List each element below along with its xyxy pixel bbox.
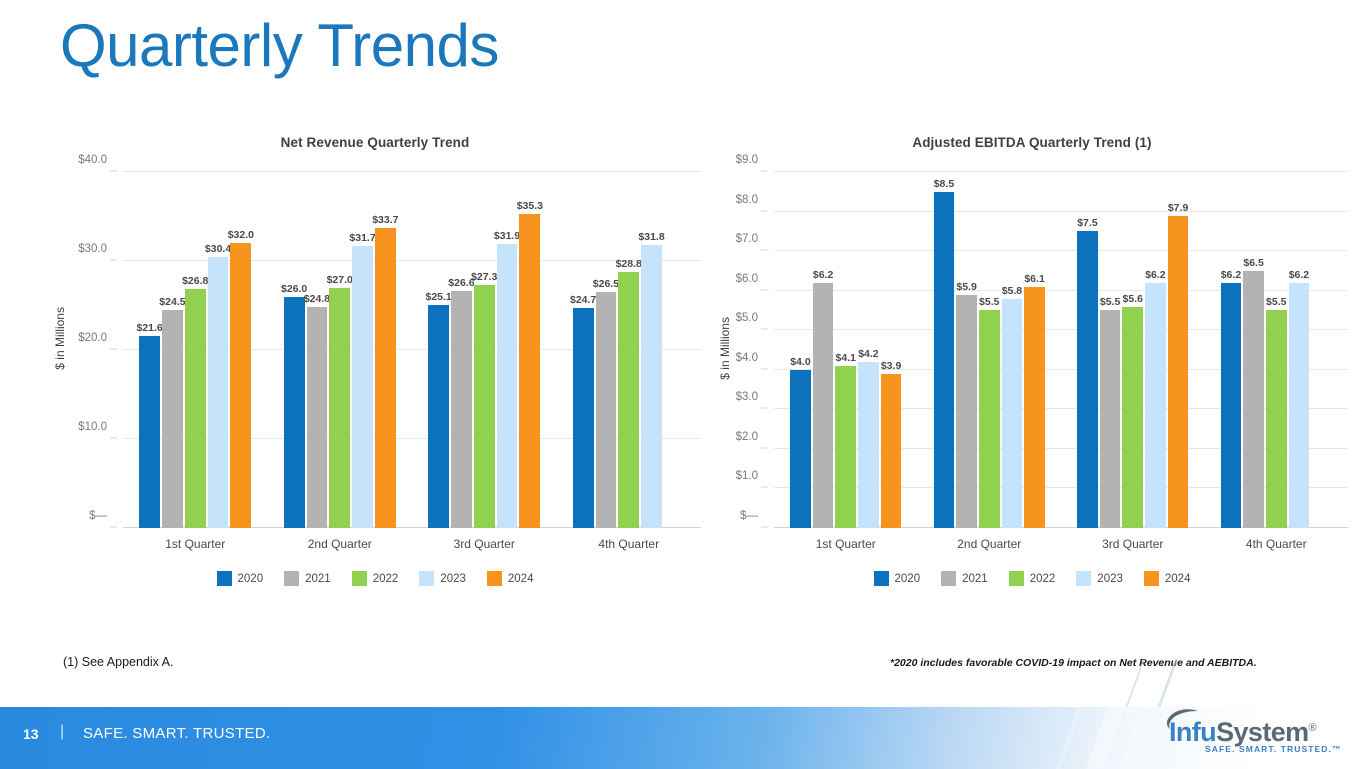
- bar-value-label: $32.0: [228, 229, 254, 241]
- bar-value-label: $24.5: [159, 296, 185, 308]
- plot-area-adjusted-ebitda: $—$1.0$2.0$3.0$4.0$5.0$6.0$7.0$8.0$9.0 $…: [774, 172, 1348, 528]
- bar[interactable]: $26.6: [451, 291, 472, 528]
- bar-slot: $26.8: [185, 172, 206, 528]
- bar-slot: $5.5: [1266, 172, 1287, 528]
- bar-value-label: $25.1: [426, 291, 452, 303]
- legend-net-revenue: 20202021202220232024: [45, 571, 705, 586]
- bar[interactable]: $30.4: [208, 257, 229, 528]
- chart-adjusted-ebitda: Adjusted EBITDA Quarterly Trend (1) $ in…: [712, 132, 1352, 592]
- bar-value-label: $5.8: [1002, 285, 1022, 297]
- bar[interactable]: $26.8: [185, 289, 206, 528]
- logo-word-system: System: [1216, 717, 1308, 747]
- bar-slot: [1311, 172, 1332, 528]
- bar-value-label: $3.9: [881, 360, 901, 372]
- bar[interactable]: $27.3: [474, 285, 495, 528]
- bar-value-label: $7.5: [1077, 217, 1097, 229]
- bar[interactable]: $25.1: [428, 305, 449, 528]
- bar-slot: $3.9: [881, 172, 902, 528]
- bar[interactable]: $6.2: [1289, 283, 1310, 528]
- bar-group: $24.7$26.5$28.8$31.8: [557, 172, 702, 528]
- bar-slot: $7.9: [1168, 172, 1189, 528]
- bar-value-label: $5.5: [979, 296, 999, 308]
- bar-slot: $6.1: [1024, 172, 1045, 528]
- x-axis-net-revenue: 1st Quarter2nd Quarter3rd Quarter4th Qua…: [123, 528, 701, 551]
- legend-label: 2023: [1097, 573, 1123, 585]
- bar-slot: $27.0: [329, 172, 350, 528]
- legend-item[interactable]: 2024: [487, 571, 534, 586]
- bar[interactable]: $32.0: [230, 243, 251, 528]
- y-tick-mark: [761, 487, 768, 488]
- y-tick-label: $30.0: [78, 243, 107, 255]
- y-axis-net-revenue: $—$10.0$20.0$30.0$40.0: [47, 172, 117, 528]
- y-tick-label: $1.0: [736, 470, 758, 482]
- y-tick-mark: [110, 438, 117, 439]
- bar-group: $21.6$24.5$26.8$30.4$32.0: [123, 172, 268, 528]
- bar-value-label: $7.9: [1168, 202, 1188, 214]
- legend-swatch: [284, 571, 299, 586]
- bar-value-label: $5.5: [1266, 296, 1286, 308]
- bar-slot: $6.2: [1145, 172, 1166, 528]
- bar-value-label: $6.2: [1145, 269, 1165, 281]
- footer-tagline: SAFE. SMART. TRUSTED.: [83, 725, 270, 742]
- bar[interactable]: $5.5: [1100, 310, 1121, 528]
- x-axis-adjusted-ebitda: 1st Quarter2nd Quarter3rd Quarter4th Qua…: [774, 528, 1348, 551]
- x-tick-label: 4th Quarter: [1205, 528, 1349, 551]
- legend-swatch: [419, 571, 434, 586]
- bar[interactable]: $4.2: [858, 362, 879, 528]
- bar[interactable]: $33.7: [375, 228, 396, 528]
- x-tick-label: 3rd Quarter: [412, 528, 557, 551]
- bar-slot: $4.0: [790, 172, 811, 528]
- y-axis-adjusted-ebitda: $—$1.0$2.0$3.0$4.0$5.0$6.0$7.0$8.0$9.0: [714, 172, 768, 528]
- bar-value-label: $24.8: [304, 293, 330, 305]
- bar-group: $4.0$6.2$4.1$4.2$3.9: [774, 172, 918, 528]
- bar[interactable]: $5.8: [1002, 299, 1023, 528]
- y-tick-label: $5.0: [736, 312, 758, 324]
- page-number: 13: [23, 726, 39, 742]
- bar[interactable]: $6.2: [1145, 283, 1166, 528]
- y-tick-mark: [761, 210, 768, 211]
- bar-value-label: $5.6: [1123, 293, 1143, 305]
- bar[interactable]: $21.6: [139, 336, 160, 528]
- bar[interactable]: $6.2: [1221, 283, 1242, 528]
- bar-slot: $26.0: [284, 172, 305, 528]
- y-tick-label: $—: [89, 510, 107, 522]
- bar-slot: $6.2: [813, 172, 834, 528]
- logo-wordmark: InfuSystem®: [1169, 713, 1316, 747]
- bar-value-label: $31.8: [638, 231, 664, 243]
- bar-slot: $5.5: [979, 172, 1000, 528]
- bar-slot: $31.8: [641, 172, 662, 528]
- bar-value-label: $6.1: [1024, 273, 1044, 285]
- bar-value-label: $31.7: [349, 232, 375, 244]
- bar-slot: $31.7: [352, 172, 373, 528]
- y-tick-label: $4.0: [736, 352, 758, 364]
- logo-trademark: ®: [1309, 722, 1317, 734]
- legend-swatch: [874, 571, 889, 586]
- y-tick-mark: [761, 527, 768, 528]
- legend-label: 2024: [508, 573, 534, 585]
- bar[interactable]: $7.5: [1077, 231, 1098, 528]
- bar-value-label: $31.9: [494, 230, 520, 242]
- bar[interactable]: $7.9: [1168, 216, 1189, 528]
- bar[interactable]: $8.5: [934, 192, 955, 528]
- bar-slot: $6.2: [1221, 172, 1242, 528]
- bar-value-label: $6.2: [1221, 269, 1241, 281]
- y-tick-mark: [110, 171, 117, 172]
- x-tick-label: 2nd Quarter: [918, 528, 1062, 551]
- bar-slot: $6.2: [1289, 172, 1310, 528]
- bar[interactable]: $4.0: [790, 370, 811, 528]
- bar-value-label: $4.0: [790, 356, 810, 368]
- bar[interactable]: $35.3: [519, 214, 540, 528]
- bar-groups-adjusted-ebitda: $4.0$6.2$4.1$4.2$3.9$8.5$5.9$5.5$5.8$6.1…: [774, 172, 1348, 528]
- bar-value-label: $30.4: [205, 243, 231, 255]
- bar[interactable]: $24.8: [307, 307, 328, 528]
- bar[interactable]: $6.1: [1024, 287, 1045, 528]
- legend-item[interactable]: 2021: [284, 571, 331, 586]
- legend-label: 2020: [238, 573, 264, 585]
- legend-swatch: [487, 571, 502, 586]
- legend-item[interactable]: 2023: [419, 571, 466, 586]
- legend-label: 2021: [962, 573, 988, 585]
- infusystem-logo: InfuSystem® SAFE. SMART. TRUSTED.™: [1161, 711, 1343, 757]
- legend-item[interactable]: 2024: [1144, 571, 1191, 586]
- legend-swatch: [352, 571, 367, 586]
- bar-slot: $28.8: [618, 172, 639, 528]
- legend-label: 2022: [1030, 573, 1056, 585]
- y-tick-mark: [761, 171, 768, 172]
- legend-label: 2023: [440, 573, 466, 585]
- bar-slot: $24.8: [307, 172, 328, 528]
- footnote-appendix: (1) See Appendix A.: [63, 655, 174, 669]
- bar-value-label: $6.2: [1289, 269, 1309, 281]
- bar[interactable]: $31.7: [352, 246, 373, 528]
- legend-label: 2022: [373, 573, 399, 585]
- bar[interactable]: $3.9: [881, 374, 902, 528]
- bar-value-label: $4.1: [836, 352, 856, 364]
- bar-slot: $5.5: [1100, 172, 1121, 528]
- bar-slot: $31.9: [497, 172, 518, 528]
- y-tick-label: $—: [740, 510, 758, 522]
- bar-slot: $4.2: [858, 172, 879, 528]
- bar-group: $8.5$5.9$5.5$5.8$6.1: [918, 172, 1062, 528]
- y-tick-label: $10.0: [78, 421, 107, 433]
- bar-slot: $7.5: [1077, 172, 1098, 528]
- y-tick-label: $2.0: [736, 431, 758, 443]
- bar-group: $25.1$26.6$27.3$31.9$35.3: [412, 172, 557, 528]
- bar-value-label: $6.2: [813, 269, 833, 281]
- y-tick-label: $20.0: [78, 332, 107, 344]
- bar-value-label: $27.0: [327, 274, 353, 286]
- bar-slot: $33.7: [375, 172, 396, 528]
- bar-value-label: $5.9: [956, 281, 976, 293]
- x-tick-label: 2nd Quarter: [268, 528, 413, 551]
- bar[interactable]: $24.5: [162, 310, 183, 528]
- x-tick-label: 3rd Quarter: [1061, 528, 1205, 551]
- bar-value-label: $8.5: [934, 178, 954, 190]
- legend-item[interactable]: 2021: [941, 571, 988, 586]
- bar-slot: [664, 172, 685, 528]
- bar[interactable]: $5.5: [1266, 310, 1287, 528]
- y-tick-mark: [110, 349, 117, 350]
- bar[interactable]: $6.5: [1243, 271, 1264, 528]
- bar[interactable]: $28.8: [618, 272, 639, 528]
- bar-value-label: $26.8: [182, 275, 208, 287]
- y-tick-label: $8.0: [736, 194, 758, 206]
- y-tick-mark: [110, 527, 117, 528]
- legend-label: 2024: [1165, 573, 1191, 585]
- x-tick-label: 1st Quarter: [123, 528, 268, 551]
- bar-value-label: $35.3: [517, 200, 543, 212]
- bar[interactable]: $24.7: [573, 308, 594, 528]
- logo-tagline: SAFE. SMART. TRUSTED.™: [1205, 744, 1342, 754]
- bar-value-label: $28.8: [616, 258, 642, 270]
- bar-value-label: $24.7: [570, 294, 596, 306]
- legend-swatch: [1076, 571, 1091, 586]
- bar-slot: $4.1: [835, 172, 856, 528]
- y-tick-mark: [761, 250, 768, 251]
- bar-value-label: $27.3: [471, 271, 497, 283]
- legend-item[interactable]: 2022: [352, 571, 399, 586]
- bar-slot: $25.1: [428, 172, 449, 528]
- legend-swatch: [217, 571, 232, 586]
- legend-item[interactable]: 2020: [874, 571, 921, 586]
- bar-slot: $21.6: [139, 172, 160, 528]
- chart-title-net-revenue: Net Revenue Quarterly Trend: [45, 132, 705, 154]
- bar-slot: $5.9: [956, 172, 977, 528]
- bar[interactable]: $27.0: [329, 288, 350, 528]
- bar-slot: $24.7: [573, 172, 594, 528]
- legend-item[interactable]: 2020: [217, 571, 264, 586]
- x-tick-label: 4th Quarter: [557, 528, 702, 551]
- bar-slot: $32.0: [230, 172, 251, 528]
- legend-swatch: [1144, 571, 1159, 586]
- y-tick-mark: [761, 447, 768, 448]
- bar[interactable]: $31.8: [641, 245, 662, 528]
- bar-groups-net-revenue: $21.6$24.5$26.8$30.4$32.0$26.0$24.8$27.0…: [123, 172, 701, 528]
- bar-value-label: $26.5: [593, 278, 619, 290]
- page-title: Quarterly Trends: [60, 9, 499, 83]
- bar-slot: $5.6: [1122, 172, 1143, 528]
- bar[interactable]: $6.2: [813, 283, 834, 528]
- bar-slot: $26.6: [451, 172, 472, 528]
- legend-adjusted-ebitda: 20202021202220232024: [712, 571, 1352, 586]
- bar-slot: $27.3: [474, 172, 495, 528]
- y-tick-label: $9.0: [736, 154, 758, 166]
- legend-label: 2021: [305, 573, 331, 585]
- y-tick-label: $7.0: [736, 233, 758, 245]
- y-tick-label: $6.0: [736, 273, 758, 285]
- bar[interactable]: $5.5: [979, 310, 1000, 528]
- footer-separator: |: [60, 723, 64, 741]
- chart-title-adjusted-ebitda: Adjusted EBITDA Quarterly Trend (1): [712, 132, 1352, 154]
- y-tick-mark: [110, 260, 117, 261]
- y-tick-label: $40.0: [78, 154, 107, 166]
- legend-item[interactable]: 2022: [1009, 571, 1056, 586]
- y-tick-mark: [761, 368, 768, 369]
- legend-label: 2020: [895, 573, 921, 585]
- bar-slot: $24.5: [162, 172, 183, 528]
- bar[interactable]: $5.6: [1122, 307, 1143, 529]
- logo-word-infu: Infu: [1169, 717, 1216, 747]
- bar[interactable]: $4.1: [835, 366, 856, 528]
- bar[interactable]: $26.0: [284, 297, 305, 528]
- y-tick-label: $3.0: [736, 391, 758, 403]
- x-tick-label: 1st Quarter: [774, 528, 918, 551]
- bar-slot: $5.8: [1002, 172, 1023, 528]
- y-tick-mark: [761, 289, 768, 290]
- bar[interactable]: $5.9: [956, 295, 977, 528]
- bar-slot: $8.5: [934, 172, 955, 528]
- bar[interactable]: $26.5: [596, 292, 617, 528]
- chart-net-revenue: Net Revenue Quarterly Trend $ in Million…: [45, 132, 705, 592]
- bar-slot: $6.5: [1243, 172, 1264, 528]
- bar-group: $7.5$5.5$5.6$6.2$7.9: [1061, 172, 1205, 528]
- bar-group: $26.0$24.8$27.0$31.7$33.7: [268, 172, 413, 528]
- bar-value-label: $21.6: [137, 322, 163, 334]
- bar-value-label: $4.2: [858, 348, 878, 360]
- footnote-covid-disclaimer: *2020 includes favorable COVID-19 impact…: [890, 657, 1257, 669]
- bar-slot: $30.4: [208, 172, 229, 528]
- bar-slot: $35.3: [519, 172, 540, 528]
- legend-swatch: [1009, 571, 1024, 586]
- bar-group: $6.2$6.5$5.5$6.2: [1205, 172, 1349, 528]
- legend-swatch: [941, 571, 956, 586]
- legend-item[interactable]: 2023: [1076, 571, 1123, 586]
- plot-area-net-revenue: $—$10.0$20.0$30.0$40.0 $21.6$24.5$26.8$3…: [123, 172, 701, 528]
- bar-value-label: $6.5: [1243, 257, 1263, 269]
- bar-slot: $26.5: [596, 172, 617, 528]
- bar-value-label: $5.5: [1100, 296, 1120, 308]
- bar[interactable]: $31.9: [497, 244, 518, 528]
- bar-value-label: $33.7: [372, 214, 398, 226]
- y-tick-mark: [761, 408, 768, 409]
- y-tick-mark: [761, 329, 768, 330]
